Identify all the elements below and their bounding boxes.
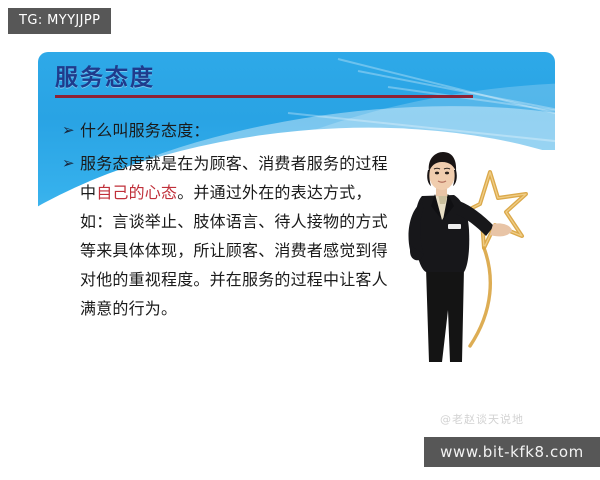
businesswoman-photo [398, 150, 558, 375]
arrow-bullet-icon: ➢ [62, 116, 80, 145]
title-block: 服务态度 [55, 66, 475, 98]
body-text-block: ➢ 什么叫服务态度： ➢ 服务态度就是在为顾客、消费者服务的过程中自己的心态。并… [62, 116, 392, 327]
url-bar: www.bit-kfk8.com [424, 437, 600, 467]
tg-badge: TG: MYYJJPP [8, 8, 111, 34]
slide-canvas: 服务态度 ➢ 什么叫服务态度： ➢ 服务态度就是在为顾客、消费者服务的过程中自己… [0, 0, 600, 480]
watermark-text: @老赵谈天说地 [440, 411, 524, 427]
bullet-paragraph: ➢ 服务态度就是在为顾客、消费者服务的过程中自己的心态。并通过外在的表达方式，如… [62, 149, 392, 323]
highlighted-text-segment: 自己的心态 [96, 183, 177, 202]
paragraph-text: 服务态度就是在为顾客、消费者服务的过程中自己的心态。并通过外在的表达方式，如：言… [80, 149, 392, 323]
text-segment: 。并通过外在的表达方式，如：言谈举止、肢体语言、待人接物的方式等来具体体现，所让… [80, 183, 388, 318]
text-segment: 什么叫服务态度： [80, 121, 210, 140]
paragraph-text: 什么叫服务态度： [80, 116, 392, 145]
arrow-bullet-icon: ➢ [62, 149, 80, 178]
page-title: 服务态度 [55, 66, 475, 91]
title-underline-rule [55, 95, 473, 98]
bullet-paragraph: ➢ 什么叫服务态度： [62, 116, 392, 145]
businesswoman-photo-graphic [398, 150, 558, 375]
